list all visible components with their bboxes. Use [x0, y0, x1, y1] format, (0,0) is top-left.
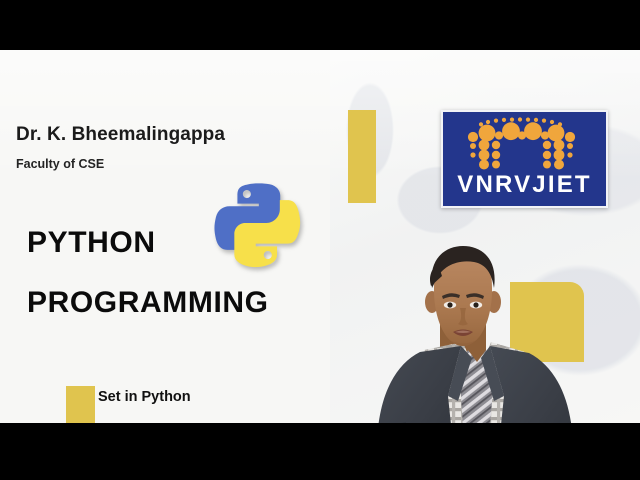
video-frame: Dr. K. Bheemalingappa Faculty of CSE PYT… — [0, 0, 640, 480]
slide-subtitle: Set in Python — [98, 389, 191, 405]
lecture-slide: Dr. K. Bheemalingappa Faculty of CSE PYT… — [0, 50, 640, 423]
gold-accent-bar-left — [66, 386, 95, 423]
vnrvjiet-dot-emblem — [443, 116, 606, 172]
speaker-role: Faculty of CSE — [16, 157, 104, 171]
slide-title-line-2: PROGRAMMING — [27, 286, 269, 320]
speaker-name: Dr. K. Bheemalingappa — [16, 124, 225, 146]
gold-accent-bar-top — [348, 110, 376, 203]
vnrvjiet-logo: VNRVJIET — [441, 110, 608, 208]
letterbox-top — [0, 0, 640, 50]
letterbox-bottom — [0, 423, 640, 480]
presenter-video-overlay — [362, 246, 592, 423]
slide-title-line-1: PYTHON — [27, 226, 156, 260]
python-logo-icon — [213, 178, 305, 270]
vnrvjiet-wordmark: VNRVJIET — [443, 171, 606, 199]
